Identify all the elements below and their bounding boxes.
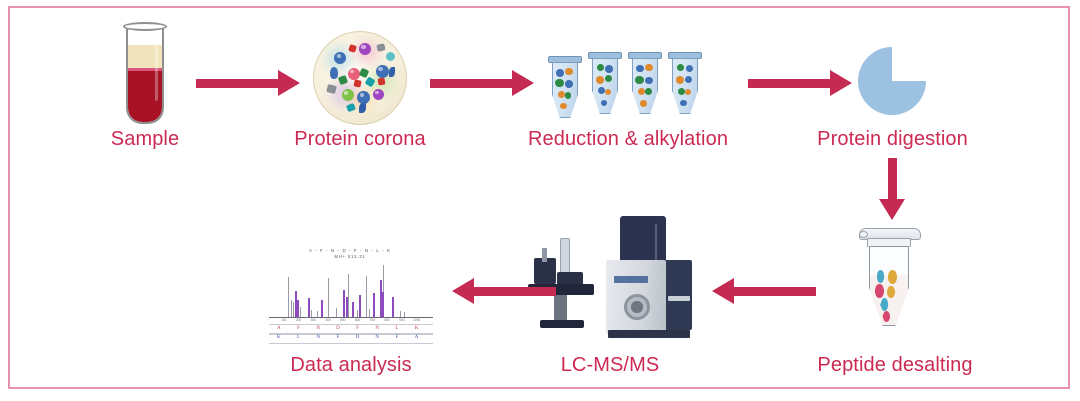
mass-spectrum-plot-icon: A - F - N - D - F - N - L - K MH+ 512.31 <box>259 245 441 342</box>
step-label-peptide-desalting: Peptide desalting <box>795 354 995 377</box>
microcentrifuge-tube <box>552 56 578 118</box>
arrow-digestion-to-desalting <box>879 158 905 220</box>
spectrum-precursor-mass: MH+ 512.31 <box>259 254 441 259</box>
spectrum-title: A - F - N - D - F - N - L - K MH+ 512.31 <box>259 248 441 259</box>
microcentrifuge-tube <box>672 52 698 114</box>
arrow-lcmsms-to-analysis <box>452 278 556 304</box>
blood-collection-tube-icon <box>126 26 164 124</box>
arrow-reduction-to-digestion <box>748 70 852 96</box>
step-label-lcmsms: LC-MS/MS <box>530 354 690 377</box>
step-label-sample: Sample <box>85 128 205 151</box>
eppendorf-tube-icon <box>858 228 922 328</box>
workflow-figure: Sample Protein corona <box>0 0 1080 401</box>
y-ion-ladder-row: KL NF DN FA <box>269 333 433 344</box>
microcentrifuge-tube <box>592 52 618 114</box>
arrow-desalting-to-lcmsms <box>712 278 816 304</box>
microcentrifuge-tube <box>632 52 658 114</box>
spectrum-peaks <box>269 261 433 317</box>
step-label-data-analysis: Data analysis <box>265 354 437 377</box>
spectrum-x-ticks: 100 200 300 400 500 600 700 800 900 1000 <box>269 318 433 323</box>
arrow-corona-to-reduction <box>430 70 534 96</box>
protein-corona-nanoparticle-icon <box>313 31 407 125</box>
arrow-sample-to-corona <box>196 70 300 96</box>
microcentrifuge-tubes-icon <box>548 52 708 124</box>
step-label-protein-corona: Protein corona <box>280 128 440 151</box>
step-label-protein-digestion: Protein digestion <box>805 128 980 151</box>
step-label-reduction-alkylation: Reduction & alkylation <box>498 128 758 151</box>
